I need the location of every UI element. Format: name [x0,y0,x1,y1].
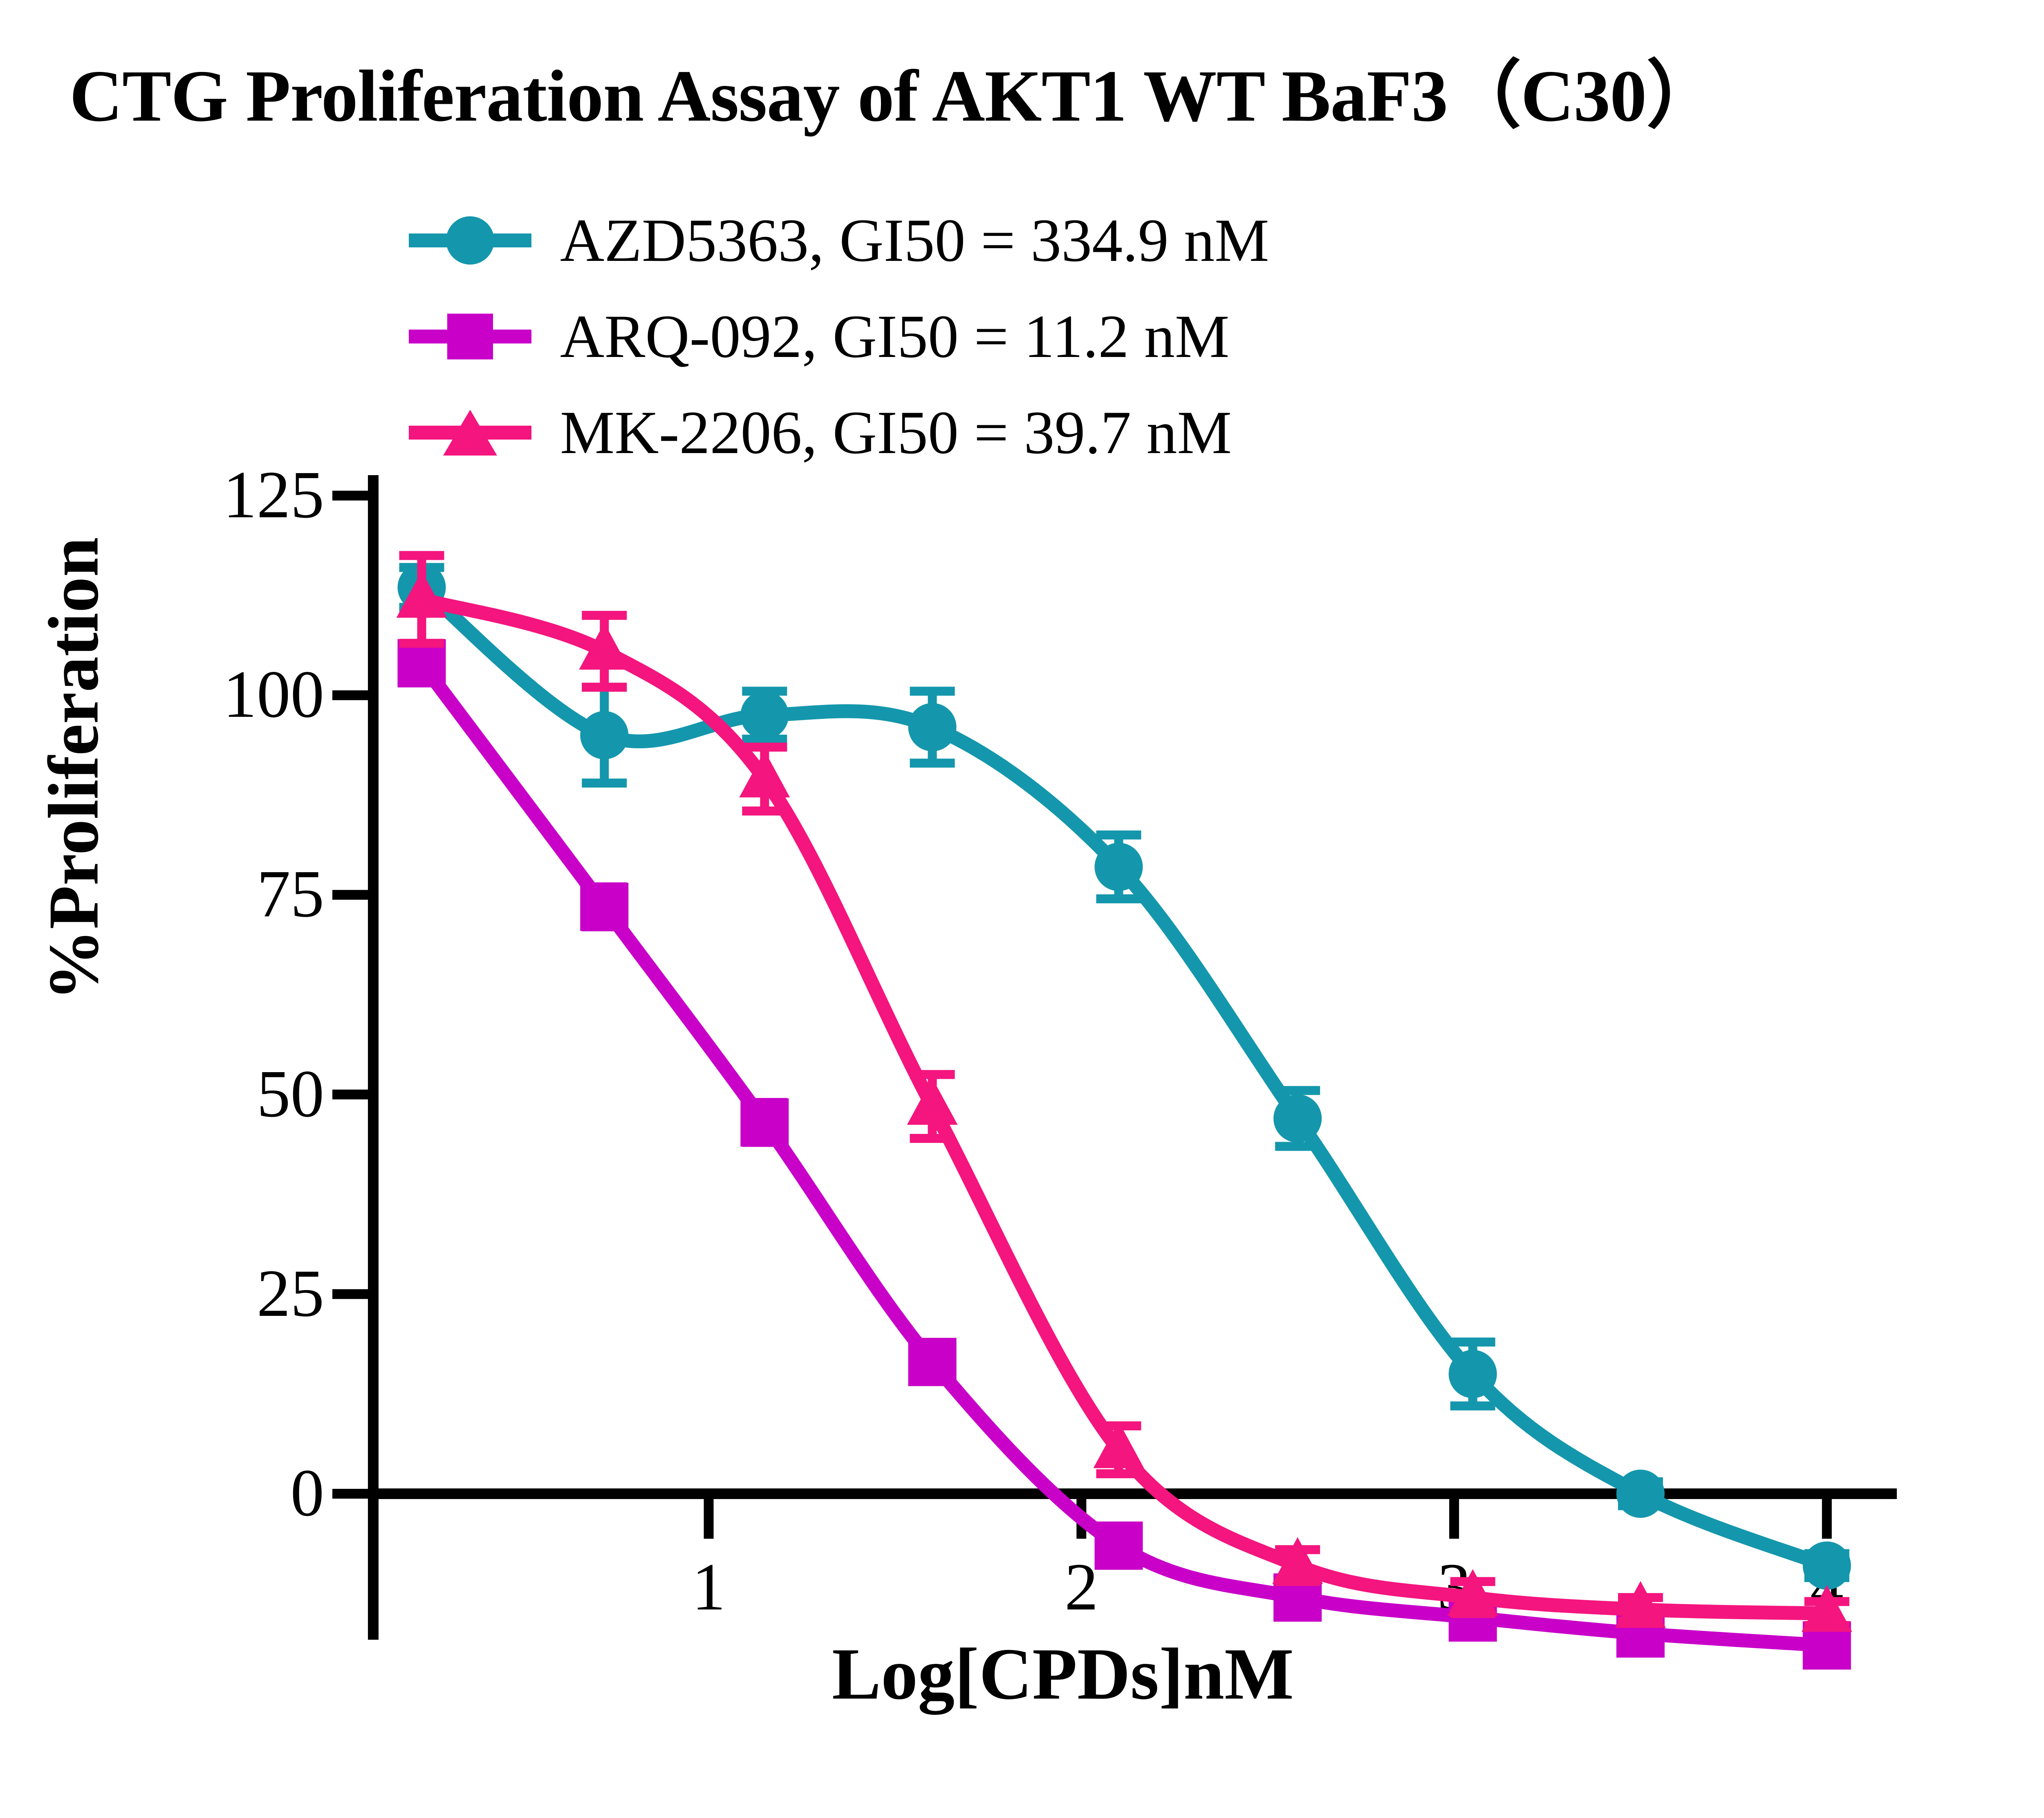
data-point [908,1338,957,1386]
data-point [1449,1350,1497,1398]
data-point [580,711,628,759]
chart-figure: CTG Proliferation Assay of AKT1 WT BaF3（… [0,0,2044,1818]
data-point [1095,843,1143,891]
data-point [740,1098,789,1147]
series-line [422,588,1827,1566]
data-point [908,703,957,751]
data-point [1616,1470,1665,1518]
data-point [1095,1522,1143,1570]
data-point [580,883,628,931]
data-point [740,691,789,739]
plot-svg [0,0,2044,1818]
data-point [1273,1094,1322,1142]
data-point [1803,1542,1851,1590]
